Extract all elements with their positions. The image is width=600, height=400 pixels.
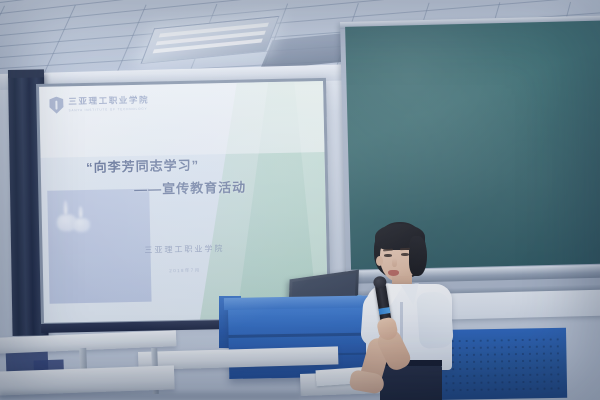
school-name-cn: 三亚理工职业学院 [68, 96, 149, 107]
microphone-head [373, 275, 388, 289]
ear [376, 256, 383, 266]
presenter [352, 222, 462, 400]
projection-screen: 三亚理工职业学院 SANYA INSTITUTE OF TECHNOLOGY “… [36, 78, 331, 326]
slide-header-band [39, 81, 324, 158]
curtain-rail [8, 69, 44, 78]
screen-border: 三亚理工职业学院 SANYA INSTITUTE OF TECHNOLOGY “… [36, 78, 331, 326]
nose [392, 258, 397, 267]
microphone-band [379, 307, 391, 315]
school-name-en: SANYA INSTITUTE OF TECHNOLOGY [69, 107, 150, 113]
shield-logo-icon [49, 96, 63, 113]
presentation-slide: 三亚理工职业学院 SANYA INSTITUTE OF TECHNOLOGY “… [39, 81, 328, 323]
school-logo: 三亚理工职业学院 SANYA INSTITUTE OF TECHNOLOGY [49, 95, 149, 114]
slide-title: “向李芳同志学习” ——宣传教育活动 [86, 152, 303, 199]
hair-side [409, 236, 427, 276]
sleeve-right [416, 291, 454, 349]
floor-shadow [0, 392, 300, 400]
slide-title-line1: “向李芳同志学习” [86, 152, 302, 176]
eye-left [384, 254, 392, 257]
classroom-scene: 三亚理工职业学院 SANYA INSTITUTE OF TECHNOLOGY “… [0, 0, 600, 400]
eye-right [401, 253, 409, 256]
